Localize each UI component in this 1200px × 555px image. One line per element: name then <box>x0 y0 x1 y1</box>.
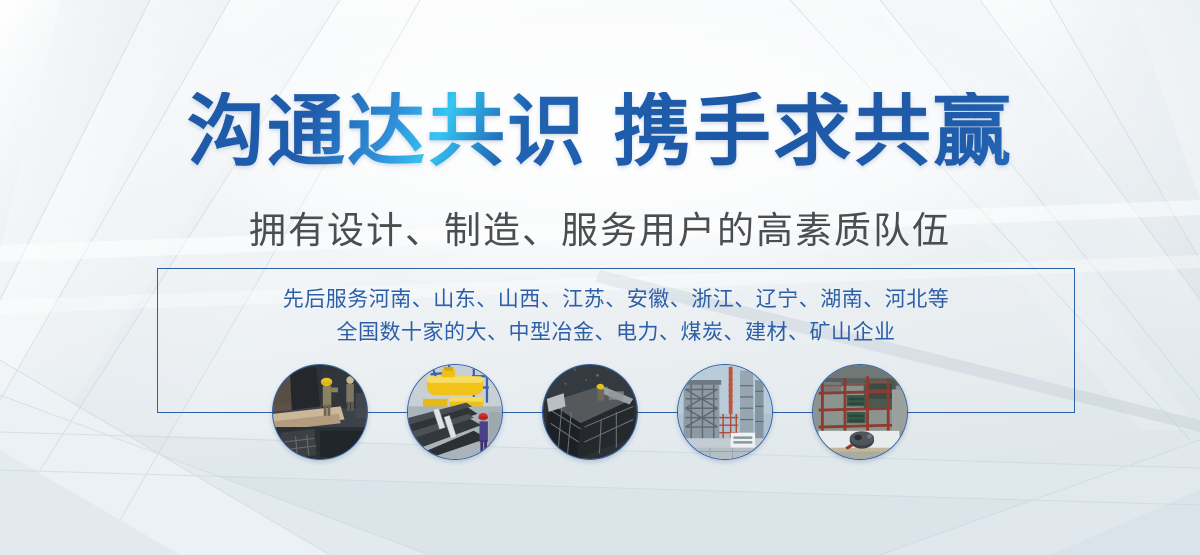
dark-steel-structure-photo <box>543 365 637 459</box>
thumbnail-yellow-tank-pipeline[interactable] <box>407 364 503 460</box>
steel-plate-installation-photo <box>273 365 367 459</box>
yellow-tank-pipeline-photo <box>408 365 502 459</box>
banner-subtitle: 拥有设计、制造、服务用户的高素质队伍 <box>0 200 1200 254</box>
factory-interior-redframe-photo <box>813 365 907 459</box>
thumbnail-strip <box>0 364 1200 462</box>
thumbnail-construction-site[interactable] <box>677 364 773 460</box>
headline-phrase-2: 携手求共赢 <box>613 87 1013 175</box>
banner-headline: 沟通达共识携手求共赢 <box>0 92 1200 170</box>
info-text: 先后服务河南、山东、山西、江苏、安徽、浙江、辽宁、湖南、河北等 全国数十家的大、… <box>157 283 1075 349</box>
headline-phrase-1: 沟通达共识 <box>187 87 587 175</box>
info-text-line-1: 先后服务河南、山东、山西、江苏、安徽、浙江、辽宁、湖南、河北等 <box>157 283 1075 316</box>
thumbnail-factory-interior[interactable] <box>812 364 908 460</box>
construction-site-scaffolding-photo <box>678 365 772 459</box>
promo-banner: 沟通达共识携手求共赢 拥有设计、制造、服务用户的高素质队伍 先后服务河南、山东、… <box>0 0 1200 555</box>
thumbnail-steel-structure[interactable] <box>542 364 638 460</box>
info-text-line-2: 全国数十家的大、中型冶金、电力、煤炭、建材、矿山企业 <box>157 316 1075 349</box>
thumbnail-steel-plate-installation[interactable] <box>272 364 368 460</box>
